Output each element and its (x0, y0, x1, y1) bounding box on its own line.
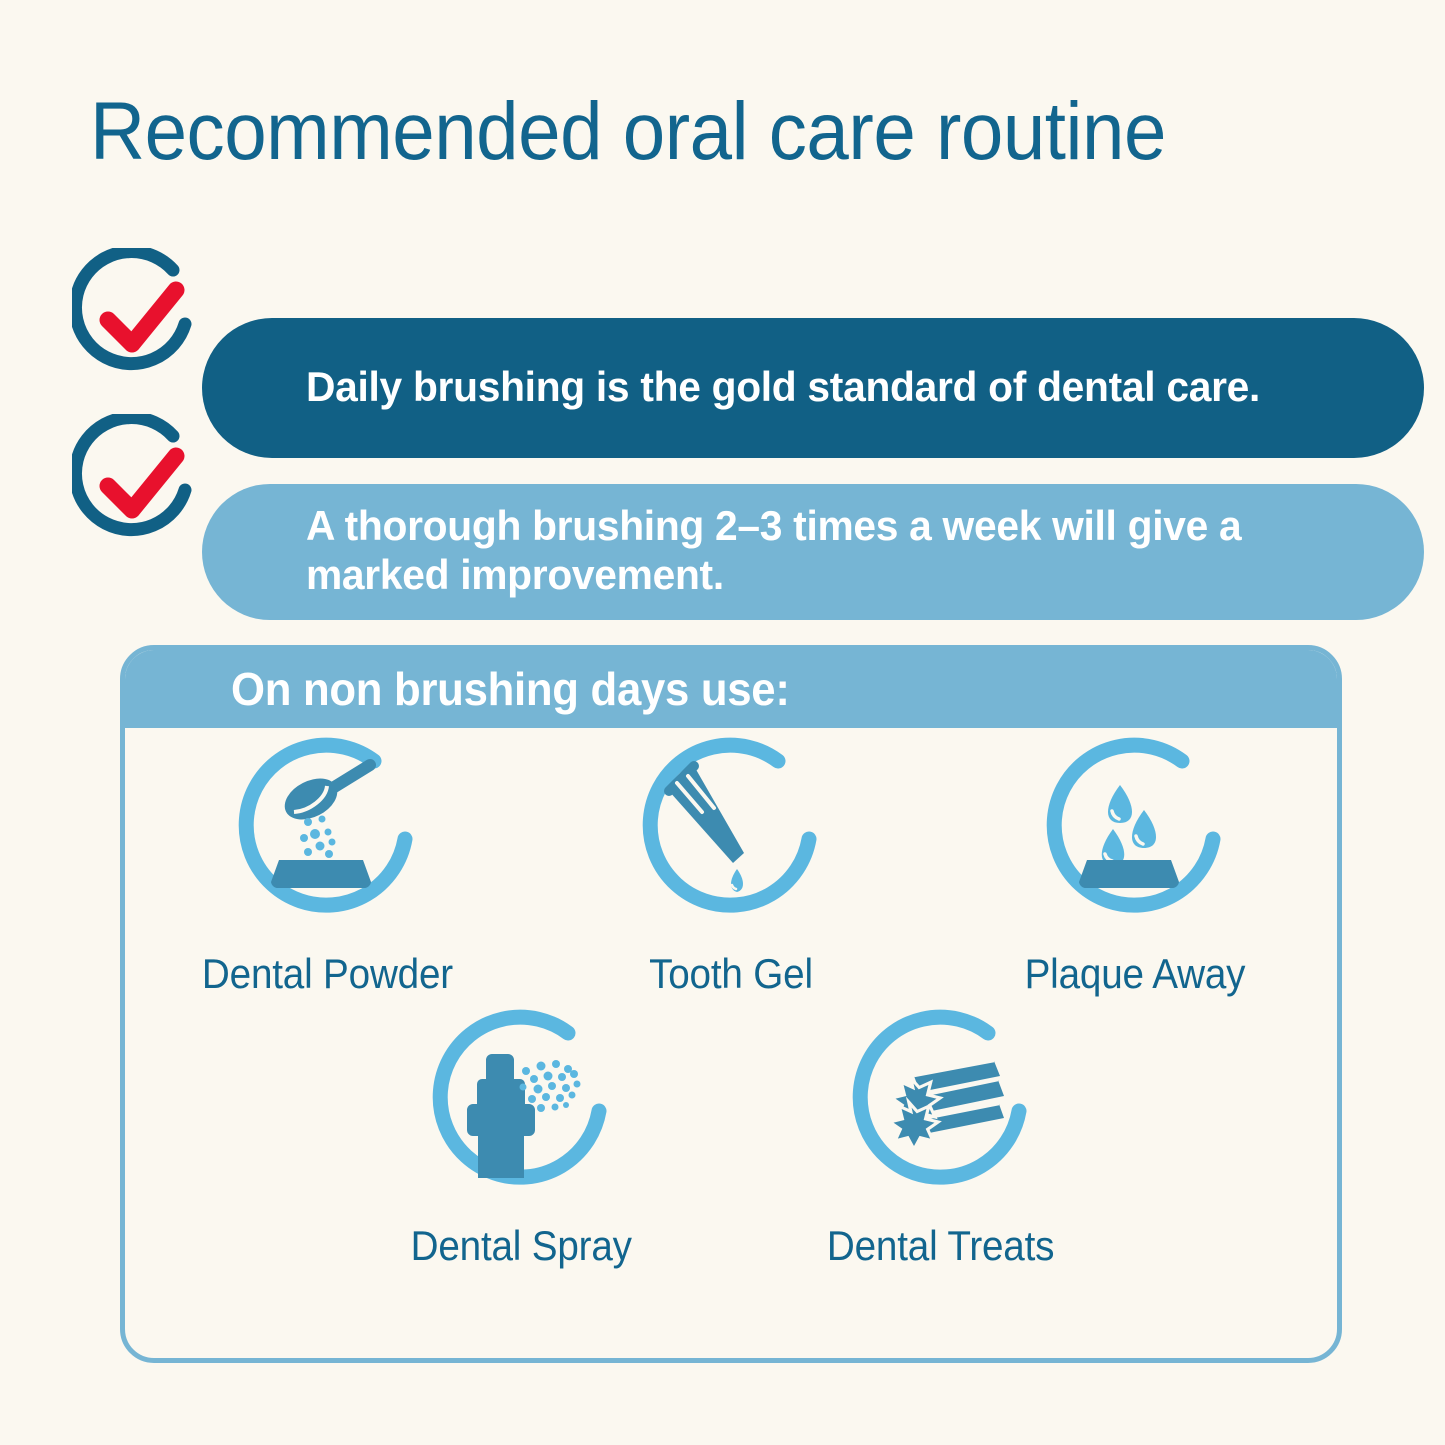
product-label: Tooth Gel (649, 950, 813, 998)
product-label: Dental Spray (410, 1222, 631, 1270)
panel-header-label: On non brushing days use: (231, 662, 790, 716)
product-item-dental-spray[interactable]: Dental Spray (311, 1008, 731, 1270)
product-label: Plaque Away (1025, 950, 1246, 998)
non-brushing-days-panel: On non brushing days use: (120, 645, 1342, 1363)
check-circle-icon (72, 414, 212, 554)
tooth-gel-icon (626, 736, 836, 936)
dental-spray-icon (416, 1008, 626, 1208)
product-item-dental-powder[interactable]: Dental Powder (125, 736, 529, 998)
product-row-2: Dental Spray (125, 1008, 1337, 1270)
recommendation-badge-1-text: Daily brushing is the gold standard of d… (306, 363, 1260, 412)
check-circle-icon (72, 248, 212, 388)
dental-treats-icon (836, 1008, 1046, 1208)
product-label: Dental Treats (827, 1222, 1054, 1270)
recommendation-badge-2-text: A thorough brushing 2–3 times a week wil… (306, 502, 1346, 599)
panel-body: Dental Powder (125, 736, 1337, 1270)
panel-header: On non brushing days use: (125, 650, 1337, 728)
page-title: Recommended oral care routine (90, 88, 1187, 177)
dental-powder-icon (222, 736, 432, 936)
recommendation-badge-2-pill: A thorough brushing 2–3 times a week wil… (202, 484, 1424, 620)
product-label: Dental Powder (201, 950, 452, 998)
product-item-plaque-away[interactable]: Plaque Away (933, 736, 1337, 998)
product-row-1: Dental Powder (125, 736, 1337, 998)
recommendation-badge-1-pill: Daily brushing is the gold standard of d… (202, 318, 1424, 458)
oral-care-routine-infographic: Recommended oral care routine Daily brus… (0, 0, 1445, 1445)
plaque-away-icon (1030, 736, 1240, 936)
product-item-dental-treats[interactable]: Dental Treats (731, 1008, 1151, 1270)
product-item-tooth-gel[interactable]: Tooth Gel (529, 736, 933, 998)
